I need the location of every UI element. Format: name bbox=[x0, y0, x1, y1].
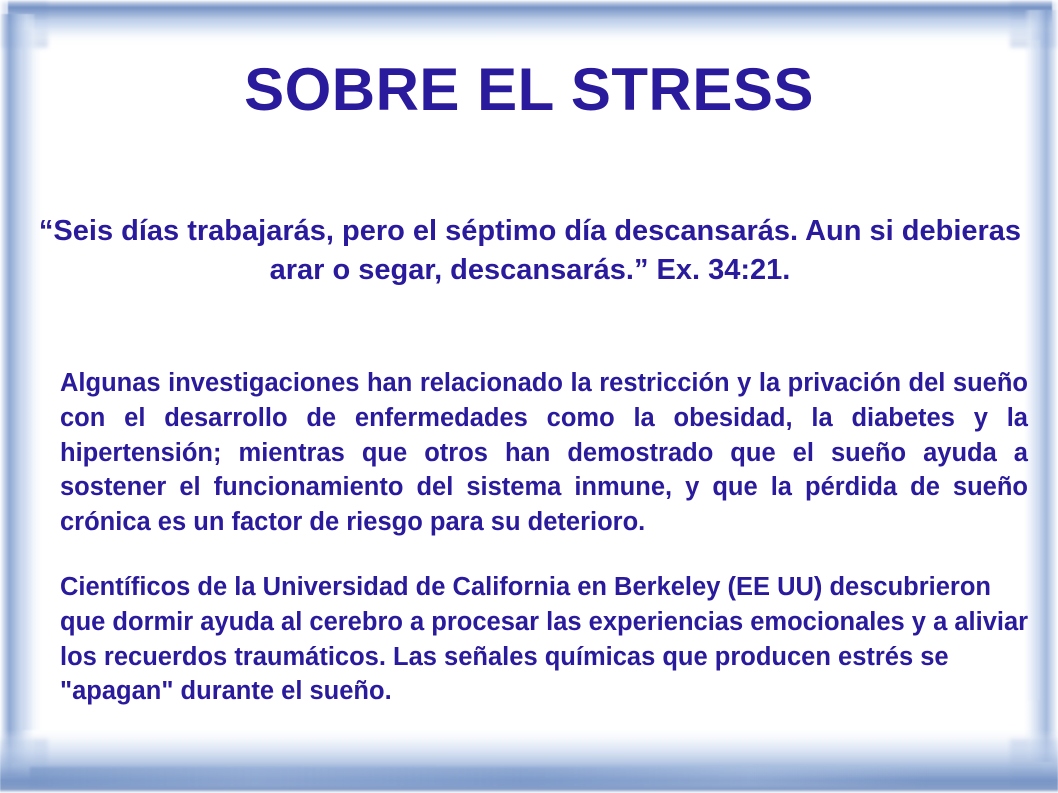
body-paragraph-1: Algunas investigaciones han relacionado … bbox=[60, 366, 1028, 540]
body-paragraph-2: Científicos de la Universidad de Califor… bbox=[60, 570, 1032, 709]
body-text-block: Algunas investigaciones han relacionado … bbox=[60, 366, 1032, 709]
presentation-slide: SOBRE EL STRESS “Seis días trabajarás, p… bbox=[0, 0, 1058, 793]
slide-title: SOBRE EL STRESS bbox=[40, 58, 1018, 121]
slide-content: SOBRE EL STRESS “Seis días trabajarás, p… bbox=[0, 0, 1058, 793]
scripture-quote: “Seis días trabajarás, pero el séptimo d… bbox=[34, 212, 1026, 290]
